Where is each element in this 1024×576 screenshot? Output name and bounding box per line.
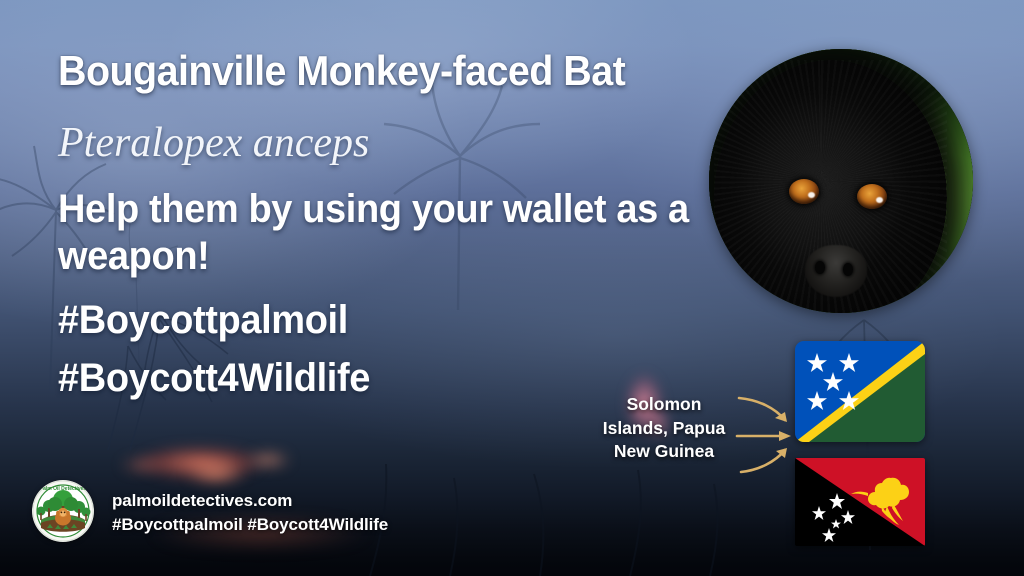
location-line-2: Islands, Papua: [588, 417, 740, 441]
bat-muzzle: [805, 245, 867, 297]
arrow-head-middle: [779, 431, 791, 441]
palm-oil-detectives-poster: Bougainville Monkey-faced Bat Pteralopex…: [0, 0, 1024, 576]
hashtag-boycottpalmoil: #Boycottpalmoil: [58, 300, 348, 340]
footer-credit: palmoildetectives.com #Boycottpalmoil #B…: [112, 489, 388, 537]
svg-text:Palm Oil Detectives: Palm Oil Detectives: [40, 486, 87, 492]
scientific-name: Pteralopex anceps: [58, 122, 369, 164]
footer-hashtags: #Boycottpalmoil #Boycott4Wildlife: [112, 513, 388, 537]
arrow-curve-bottom: [741, 450, 785, 472]
location-line-1: Solomon: [588, 393, 740, 417]
hashtag-boycott4wildlife: #Boycott4Wildlife: [58, 358, 370, 398]
footer-website[interactable]: palmoildetectives.com: [112, 489, 388, 513]
fire-glow-c: [245, 452, 291, 468]
bat-eye-right: [857, 184, 887, 209]
appeal-text: Help them by using your wallet as a weap…: [58, 186, 714, 280]
arrows-group: [735, 392, 797, 478]
location-label: Solomon Islands, Papua New Guinea: [588, 393, 740, 464]
location-line-3: New Guinea: [588, 440, 740, 464]
bat-photo-circle: [709, 49, 973, 313]
page-title: Bougainville Monkey-faced Bat: [58, 50, 716, 92]
fire-glow-b: [186, 462, 246, 484]
palm-oil-detectives-logo[interactable]: Palm Oil Detectives: [32, 480, 94, 542]
fire-glow-d: [120, 458, 164, 472]
bat-eye-left: [789, 179, 819, 204]
flag-solomon-islands: [795, 341, 925, 442]
bat-nostril-left: [815, 261, 825, 274]
bat-nostril-right: [843, 263, 853, 276]
flag-papua-new-guinea: [795, 458, 925, 546]
